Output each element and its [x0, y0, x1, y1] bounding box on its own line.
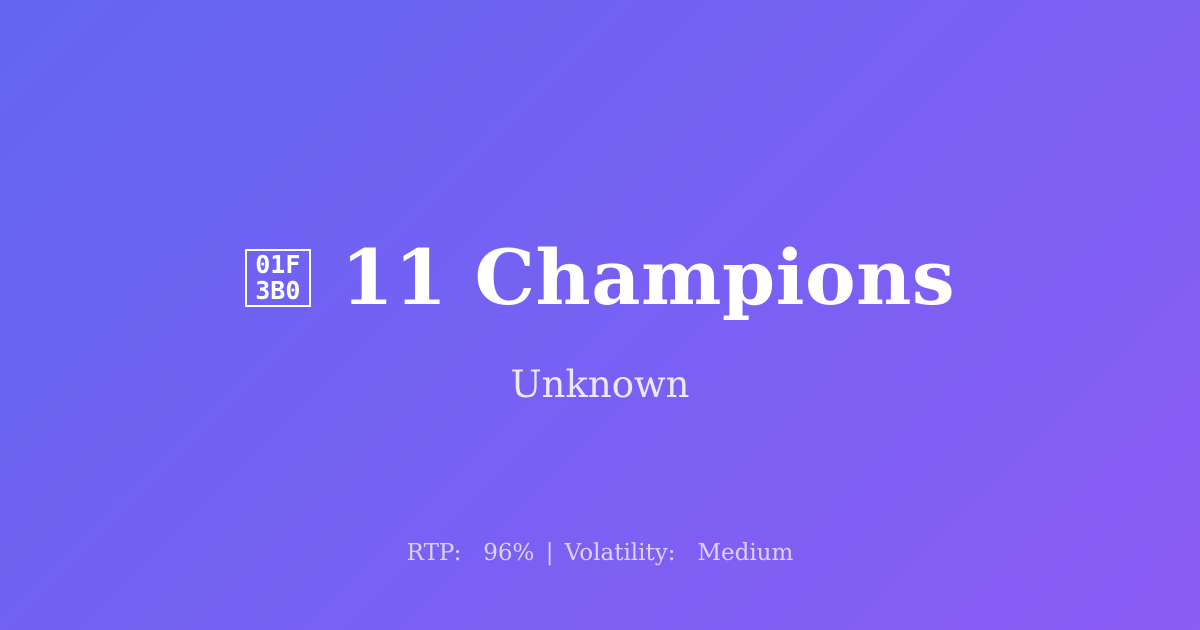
page-title: 11 Champions — [341, 240, 955, 316]
game-meta-line: RTP: 96% | Volatility: Medium — [0, 540, 1200, 568]
game-provider-subtitle: Unknown — [0, 365, 1200, 406]
slot-machine-icon: 01F 3B0 — [245, 249, 311, 307]
title-row: 01F 3B0 11 Champions — [0, 232, 1200, 324]
slot-machine-icon-hex-bottom: 3B0 — [255, 278, 300, 304]
rtp-value: 96% — [483, 540, 534, 566]
game-preview-card: 01F 3B0 11 Champions Unknown RTP: 96% | … — [0, 0, 1200, 630]
meta-separator: | — [542, 540, 558, 566]
volatility-value: Medium — [697, 540, 793, 566]
rtp-label: RTP: — [407, 540, 462, 566]
slot-machine-icon-hex-top: 01F — [255, 252, 300, 278]
volatility-label: Volatility: — [565, 540, 676, 566]
